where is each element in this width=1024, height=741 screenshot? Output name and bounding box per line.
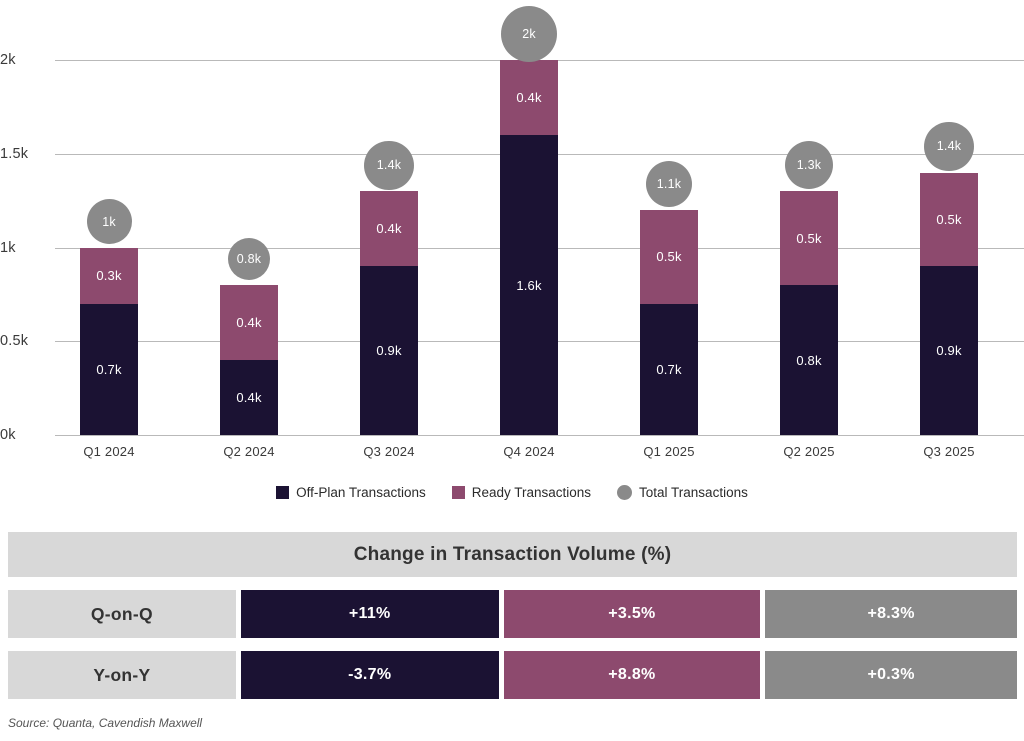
off-plan-value-cell: -3.7% xyxy=(241,651,499,699)
bar-segment-ready[interactable]: 0.4k xyxy=(220,285,278,360)
row-label-cell: Y-on-Y xyxy=(8,651,236,699)
bar-group[interactable]: 0.7k0.3k xyxy=(80,248,138,436)
legend-square-icon xyxy=(452,486,465,499)
bar-group[interactable]: 0.4k0.4k xyxy=(220,285,278,435)
bar-group[interactable]: 0.9k0.4k xyxy=(360,191,418,435)
ready-value-cell: +8.8% xyxy=(504,651,761,699)
legend-item[interactable]: Total Transactions xyxy=(617,485,748,500)
bar-segment-off-plan[interactable]: 0.7k xyxy=(640,304,698,435)
gridline xyxy=(55,435,1024,436)
bar-segment-off-plan[interactable]: 0.9k xyxy=(360,266,418,435)
total-transactions-bubble[interactable]: 1.1k xyxy=(646,161,692,207)
legend-circle-icon xyxy=(617,485,632,500)
bar-group[interactable]: 0.8k0.5k xyxy=(780,191,838,435)
legend-label: Off-Plan Transactions xyxy=(296,485,426,500)
y-axis-tick-label: 2k xyxy=(0,52,46,68)
legend-label: Total Transactions xyxy=(639,485,748,500)
bar-segment-ready[interactable]: 0.4k xyxy=(500,60,558,135)
total-transactions-bubble[interactable]: 1.4k xyxy=(364,141,413,190)
total-transactions-bubble[interactable]: 1.4k xyxy=(924,122,973,171)
legend-item[interactable]: Off-Plan Transactions xyxy=(276,485,426,500)
transactions-stacked-bar-chart: 0k0.5k1k1.5k2k0.7k0.3k1k0.4k0.4k0.8k0.9k… xyxy=(0,0,1024,470)
x-axis-tick-label: Q3 2025 xyxy=(889,444,1009,459)
table-row: Q-on-Q+11%+3.5%+8.3% xyxy=(8,590,1017,638)
chart-legend: Off-Plan TransactionsReady TransactionsT… xyxy=(0,485,1024,500)
bar-segment-off-plan[interactable]: 1.6k xyxy=(500,135,558,435)
x-axis-tick-label: Q4 2024 xyxy=(469,444,589,459)
bar-segment-off-plan[interactable]: 0.9k xyxy=(920,266,978,435)
total-transactions-bubble[interactable]: 1.3k xyxy=(785,141,833,189)
legend-label: Ready Transactions xyxy=(472,485,591,500)
x-axis-tick-label: Q2 2025 xyxy=(749,444,869,459)
bar-segment-off-plan[interactable]: 0.4k xyxy=(220,360,278,435)
bar-segment-off-plan[interactable]: 0.8k xyxy=(780,285,838,435)
row-label-cell: Q-on-Q xyxy=(8,590,236,638)
bar-segment-ready[interactable]: 0.5k xyxy=(640,210,698,304)
x-axis-tick-label: Q1 2024 xyxy=(49,444,169,459)
bar-segment-ready[interactable]: 0.5k xyxy=(780,191,838,285)
y-axis-tick-label: 0.5k xyxy=(0,333,46,349)
off-plan-value-cell: +11% xyxy=(241,590,499,638)
total-transactions-bubble[interactable]: 2k xyxy=(501,6,557,62)
source-note: Source: Quanta, Cavendish Maxwell xyxy=(8,716,202,730)
total-transactions-bubble[interactable]: 1k xyxy=(87,199,132,244)
y-axis-tick-label: 0k xyxy=(0,427,46,443)
x-axis-tick-label: Q3 2024 xyxy=(329,444,449,459)
bar-segment-ready[interactable]: 0.4k xyxy=(360,191,418,266)
ready-value-cell: +3.5% xyxy=(504,590,761,638)
bar-segment-off-plan[interactable]: 0.7k xyxy=(80,304,138,435)
y-axis-tick-label: 1.5k xyxy=(0,146,46,162)
bar-segment-ready[interactable]: 0.5k xyxy=(920,173,978,267)
legend-square-icon xyxy=(276,486,289,499)
bar-group[interactable]: 0.9k0.5k xyxy=(920,173,978,436)
x-axis-tick-label: Q2 2024 xyxy=(189,444,309,459)
table-body: Q-on-Q+11%+3.5%+8.3%Y-on-Y-3.7%+8.8%+0.3… xyxy=(8,590,1017,699)
y-axis-tick-label: 1k xyxy=(0,240,46,256)
total-transactions-bubble[interactable]: 0.8k xyxy=(228,238,271,281)
table-title: Change in Transaction Volume (%) xyxy=(8,532,1017,577)
x-axis-tick-label: Q1 2025 xyxy=(609,444,729,459)
change-in-transaction-volume-table: Change in Transaction Volume (%) Q-on-Q+… xyxy=(8,532,1017,699)
total-value-cell: +0.3% xyxy=(765,651,1017,699)
table-row: Y-on-Y-3.7%+8.8%+0.3% xyxy=(8,651,1017,699)
bar-segment-ready[interactable]: 0.3k xyxy=(80,248,138,304)
bar-group[interactable]: 0.7k0.5k xyxy=(640,210,698,435)
legend-item[interactable]: Ready Transactions xyxy=(452,485,591,500)
total-value-cell: +8.3% xyxy=(765,590,1017,638)
bar-group[interactable]: 1.6k0.4k xyxy=(500,60,558,435)
plot-area: 0k0.5k1k1.5k2k0.7k0.3k1k0.4k0.4k0.8k0.9k… xyxy=(55,0,1024,436)
